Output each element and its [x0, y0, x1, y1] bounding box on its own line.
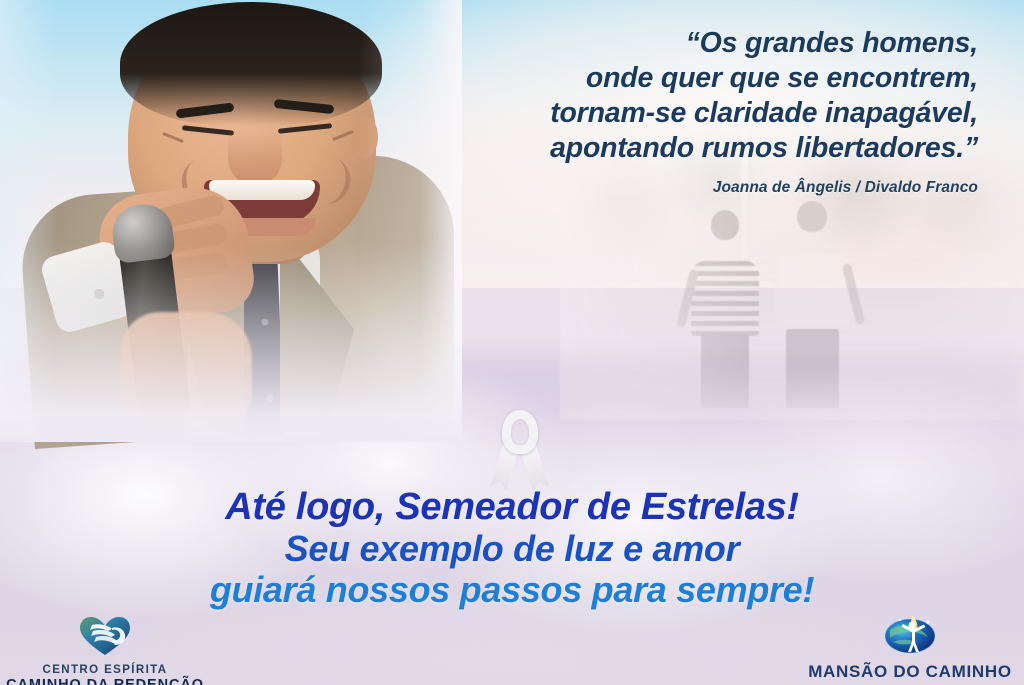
globe-figure-icon [883, 612, 937, 654]
portrait-fade-mask [0, 0, 462, 442]
centro-espirita-logo: CENTRO ESPÍRITA CAMINHO DA REDENÇÃO [2, 616, 208, 685]
quote-line-1: “Os grandes homens, [418, 26, 978, 61]
centro-espirita-line-1: CENTRO ESPÍRITA [2, 663, 208, 677]
quote-line-4: apontando rumos libertadores.” [418, 131, 978, 166]
quote-line-3: tornam-se claridade inapagável, [418, 96, 978, 131]
headline-line-1: Até logo, Semeador de Estrelas! [0, 486, 1024, 528]
ribbon-loop [502, 410, 538, 454]
quote-line-2: onde quer que se encontrem, [418, 61, 978, 96]
mansao-do-caminho-label: MANSÃO DO CAMINHO [802, 662, 1018, 682]
headline-line-2: Seu exemplo de luz e amor [0, 528, 1024, 569]
headline-block: Até logo, Semeador de Estrelas! Seu exem… [0, 486, 1024, 610]
memorial-poster: “Os grandes homens, onde quer que se enc… [0, 0, 1024, 685]
white-mourning-ribbon-icon [488, 410, 552, 488]
quote-block: “Os grandes homens, onde quer que se enc… [418, 26, 978, 197]
centro-espirita-line-2: CAMINHO DA REDENÇÃO [2, 677, 208, 685]
divaldo-franco-portrait [0, 0, 462, 442]
heart-hands-icon [79, 616, 131, 656]
quote-attribution: Joanna de Ângelis / Divaldo Franco [418, 179, 978, 197]
headline-line-3: guiará nossos passos para sempre! [0, 569, 1024, 610]
mansao-do-caminho-logo: MANSÃO DO CAMINHO [802, 612, 1018, 682]
